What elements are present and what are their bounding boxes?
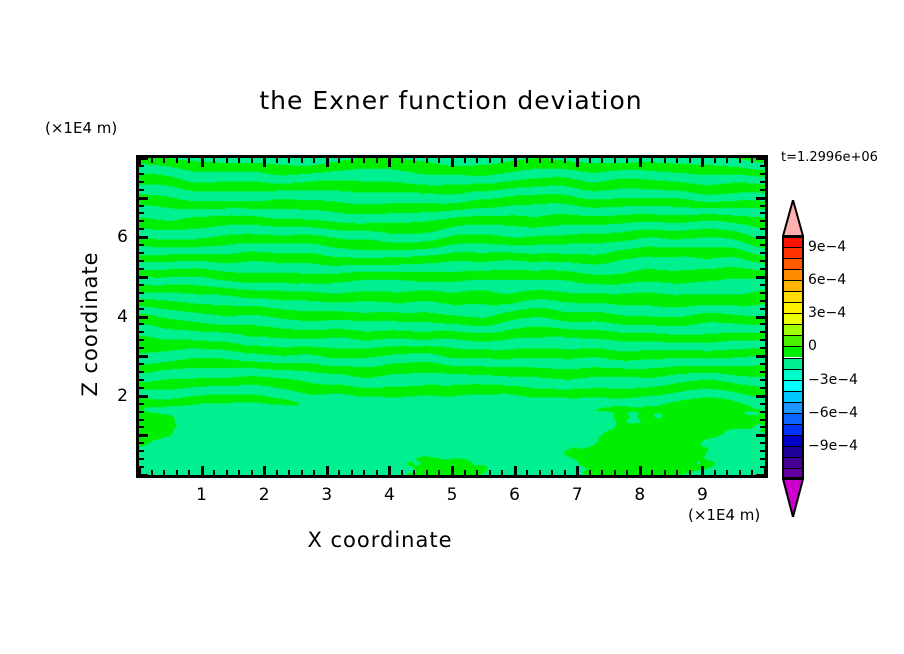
y-minor-tick	[139, 323, 144, 325]
x-major-tick	[201, 466, 204, 475]
x-minor-tick	[238, 470, 240, 475]
y-minor-tick	[760, 244, 765, 246]
y-minor-tick	[760, 411, 765, 413]
x-major-tick	[201, 158, 204, 167]
x-major-tick	[514, 466, 517, 475]
x-minor-tick	[501, 470, 503, 475]
y-minor-tick	[139, 244, 144, 246]
x-minor-tick	[251, 470, 253, 475]
x-minor-tick	[226, 158, 228, 163]
contour-field	[139, 158, 765, 475]
y-minor-tick	[760, 426, 765, 428]
colorbar-band	[782, 391, 804, 402]
y-major-tick	[756, 355, 765, 358]
x-minor-tick	[726, 470, 728, 475]
y-major-tick	[139, 355, 148, 358]
x-minor-tick	[213, 470, 215, 475]
colorbar-band	[782, 269, 804, 280]
x-minor-tick	[651, 470, 653, 475]
y-minor-tick	[139, 220, 144, 222]
x-minor-tick	[176, 470, 178, 475]
y-minor-tick	[139, 189, 144, 191]
contour-plot-area	[136, 155, 768, 478]
x-minor-tick	[151, 158, 153, 163]
y-minor-tick	[760, 347, 765, 349]
y-major-tick	[756, 395, 765, 398]
y-minor-tick	[760, 189, 765, 191]
y-minor-tick	[760, 403, 765, 405]
y-minor-tick	[760, 387, 765, 389]
x-minor-tick	[564, 158, 566, 163]
x-minor-tick	[251, 158, 253, 163]
x-minor-tick	[564, 470, 566, 475]
colorbar-band	[782, 313, 804, 324]
y-minor-tick	[760, 220, 765, 222]
x-major-tick	[388, 158, 391, 167]
y-major-tick	[139, 276, 148, 279]
colorbar-tick-label: −6e−4	[808, 405, 858, 421]
y-minor-tick	[139, 284, 144, 286]
y-major-tick	[139, 236, 148, 239]
x-minor-tick	[351, 158, 353, 163]
x-minor-tick	[213, 158, 215, 163]
y-minor-tick	[139, 260, 144, 262]
x-minor-tick	[664, 470, 666, 475]
x-major-tick	[701, 466, 704, 475]
x-major-tick	[263, 466, 266, 475]
colorbar-band	[782, 280, 804, 291]
x-minor-tick	[726, 158, 728, 163]
x-minor-tick	[739, 158, 741, 163]
x-minor-tick	[626, 158, 628, 163]
x-minor-tick	[526, 470, 528, 475]
y-minor-tick	[760, 450, 765, 452]
x-minor-tick	[413, 158, 415, 163]
x-major-tick	[639, 466, 642, 475]
x-minor-tick	[276, 470, 278, 475]
x-minor-tick	[676, 158, 678, 163]
y-minor-tick	[760, 165, 765, 167]
x-minor-tick	[601, 158, 603, 163]
x-minor-tick	[401, 158, 403, 163]
x-tick-label: 7	[557, 485, 597, 505]
x-minor-tick	[288, 158, 290, 163]
y-major-tick	[139, 157, 148, 160]
colorbar-band	[782, 358, 804, 369]
y-minor-tick	[760, 268, 765, 270]
y-minor-tick	[139, 268, 144, 270]
x-minor-tick	[163, 470, 165, 475]
y-minor-tick	[760, 339, 765, 341]
y-tick-label: 2	[88, 386, 128, 406]
y-minor-tick	[760, 458, 765, 460]
y-major-tick	[139, 395, 148, 398]
x-major-tick	[388, 466, 391, 475]
x-minor-tick	[338, 158, 340, 163]
x-minor-tick	[476, 470, 478, 475]
x-axis-title: X coordinate	[0, 528, 760, 552]
y-minor-tick	[139, 331, 144, 333]
x-minor-tick	[338, 470, 340, 475]
y-minor-tick	[760, 212, 765, 214]
colorbar-band	[782, 291, 804, 302]
x-axis-unit-label: (×1E4 m)	[688, 506, 760, 524]
y-minor-tick	[760, 323, 765, 325]
x-major-tick	[326, 466, 329, 475]
x-minor-tick	[176, 158, 178, 163]
y-minor-tick	[139, 173, 144, 175]
y-minor-tick	[139, 411, 144, 413]
colorbar-band	[782, 324, 804, 335]
colorbar-bottom-cap	[782, 479, 804, 517]
x-major-tick	[639, 158, 642, 167]
x-minor-tick	[651, 158, 653, 163]
y-minor-tick	[139, 308, 144, 310]
x-minor-tick	[401, 470, 403, 475]
colorbar-band	[782, 457, 804, 468]
y-minor-tick	[760, 228, 765, 230]
y-minor-tick	[139, 371, 144, 373]
x-minor-tick	[751, 470, 753, 475]
y-major-tick	[756, 276, 765, 279]
x-tick-label: 4	[369, 485, 409, 505]
x-minor-tick	[664, 158, 666, 163]
x-tick-label: 5	[432, 485, 472, 505]
x-minor-tick	[363, 470, 365, 475]
x-minor-tick	[301, 470, 303, 475]
y-major-tick	[756, 157, 765, 160]
x-minor-tick	[226, 470, 228, 475]
y-major-tick	[756, 236, 765, 239]
y-minor-tick	[760, 284, 765, 286]
y-minor-tick	[760, 205, 765, 207]
y-major-tick	[139, 197, 148, 200]
x-minor-tick	[689, 470, 691, 475]
y-tick-label: 6	[88, 227, 128, 247]
x-tick-label: 3	[307, 485, 347, 505]
x-minor-tick	[363, 158, 365, 163]
x-major-tick	[326, 158, 329, 167]
x-minor-tick	[601, 470, 603, 475]
colorbar-tick-label: 6e−4	[808, 272, 846, 288]
x-minor-tick	[589, 470, 591, 475]
colorbar-band	[782, 247, 804, 258]
y-major-tick	[756, 316, 765, 319]
colorbar-band	[782, 380, 804, 391]
y-minor-tick	[139, 300, 144, 302]
y-axis-unit-label: (×1E4 m)	[45, 119, 117, 137]
x-minor-tick	[689, 158, 691, 163]
x-minor-tick	[489, 470, 491, 475]
y-minor-tick	[760, 363, 765, 365]
x-minor-tick	[714, 158, 716, 163]
colorbar-tick-label: 0	[808, 338, 817, 354]
y-minor-tick	[760, 252, 765, 254]
x-major-tick	[451, 158, 454, 167]
x-tick-label: 6	[495, 485, 535, 505]
y-minor-tick	[139, 450, 144, 452]
x-major-tick	[514, 158, 517, 167]
x-minor-tick	[438, 470, 440, 475]
colorbar-tick-label: −3e−4	[808, 372, 858, 388]
x-minor-tick	[464, 158, 466, 163]
x-minor-tick	[376, 470, 378, 475]
x-minor-tick	[589, 158, 591, 163]
x-tick-label: 2	[244, 485, 284, 505]
x-minor-tick	[476, 158, 478, 163]
y-minor-tick	[139, 252, 144, 254]
y-minor-tick	[139, 181, 144, 183]
y-minor-tick	[139, 228, 144, 230]
y-minor-tick	[139, 387, 144, 389]
y-minor-tick	[139, 379, 144, 381]
x-tick-label: 9	[682, 485, 722, 505]
colorbar-band	[782, 236, 804, 247]
time-annotation: t=1.2996e+06	[781, 150, 878, 165]
y-minor-tick	[760, 331, 765, 333]
x-minor-tick	[751, 158, 753, 163]
y-minor-tick	[760, 442, 765, 444]
x-minor-tick	[151, 470, 153, 475]
x-minor-tick	[276, 158, 278, 163]
y-minor-tick	[139, 165, 144, 167]
colorbar-band	[782, 369, 804, 380]
x-minor-tick	[676, 470, 678, 475]
y-major-tick	[139, 316, 148, 319]
colorbar-band	[782, 258, 804, 269]
x-minor-tick	[551, 158, 553, 163]
colorbar-tick-label: 9e−4	[808, 239, 846, 255]
y-minor-tick	[760, 292, 765, 294]
x-major-tick	[701, 158, 704, 167]
colorbar-band	[782, 413, 804, 424]
colorbar	[782, 236, 804, 479]
x-minor-tick	[539, 470, 541, 475]
y-minor-tick	[139, 442, 144, 444]
y-major-tick	[756, 197, 765, 200]
colorbar-top-cap	[782, 200, 804, 236]
x-major-tick	[451, 466, 454, 475]
y-minor-tick	[139, 292, 144, 294]
y-minor-tick	[760, 419, 765, 421]
colorbar-band	[782, 446, 804, 457]
x-minor-tick	[426, 470, 428, 475]
y-minor-tick	[139, 339, 144, 341]
x-minor-tick	[238, 158, 240, 163]
x-minor-tick	[551, 470, 553, 475]
x-minor-tick	[526, 158, 528, 163]
colorbar-band	[782, 402, 804, 413]
x-minor-tick	[301, 158, 303, 163]
y-major-tick	[139, 474, 148, 477]
x-minor-tick	[426, 158, 428, 163]
y-minor-tick	[760, 300, 765, 302]
x-minor-tick	[614, 470, 616, 475]
colorbar-band	[782, 435, 804, 446]
x-minor-tick	[501, 158, 503, 163]
y-minor-tick	[760, 173, 765, 175]
chart-title: the Exner function deviation	[0, 86, 904, 115]
x-minor-tick	[614, 158, 616, 163]
colorbar-band	[782, 468, 804, 479]
x-minor-tick	[438, 158, 440, 163]
y-minor-tick	[760, 371, 765, 373]
y-minor-tick	[139, 403, 144, 405]
colorbar-band	[782, 346, 804, 357]
x-minor-tick	[288, 470, 290, 475]
x-minor-tick	[464, 470, 466, 475]
y-tick-label: 4	[88, 307, 128, 327]
colorbar-tick-label: −9e−4	[808, 438, 858, 454]
x-minor-tick	[413, 470, 415, 475]
colorbar-tick-label: 3e−4	[808, 305, 846, 321]
y-minor-tick	[139, 426, 144, 428]
colorbar-band	[782, 302, 804, 313]
figure-root: the Exner function deviation (×1E4 m) (×…	[0, 0, 904, 654]
x-minor-tick	[188, 470, 190, 475]
y-major-tick	[756, 434, 765, 437]
y-minor-tick	[760, 260, 765, 262]
y-minor-tick	[139, 347, 144, 349]
x-major-tick	[263, 158, 266, 167]
y-minor-tick	[760, 181, 765, 183]
x-tick-label: 1	[182, 485, 222, 505]
y-minor-tick	[760, 379, 765, 381]
y-minor-tick	[139, 205, 144, 207]
colorbar-band	[782, 424, 804, 435]
colorbar-band	[782, 335, 804, 346]
x-minor-tick	[714, 470, 716, 475]
x-minor-tick	[188, 158, 190, 163]
x-minor-tick	[539, 158, 541, 163]
y-minor-tick	[760, 308, 765, 310]
x-minor-tick	[313, 158, 315, 163]
y-minor-tick	[760, 466, 765, 468]
x-tick-label: 8	[620, 485, 660, 505]
y-major-tick	[139, 434, 148, 437]
y-minor-tick	[139, 458, 144, 460]
x-minor-tick	[351, 470, 353, 475]
x-minor-tick	[489, 158, 491, 163]
y-minor-tick	[139, 466, 144, 468]
x-minor-tick	[376, 158, 378, 163]
x-minor-tick	[313, 470, 315, 475]
y-minor-tick	[139, 419, 144, 421]
x-major-tick	[576, 466, 579, 475]
x-minor-tick	[739, 470, 741, 475]
x-major-tick	[576, 158, 579, 167]
x-minor-tick	[626, 470, 628, 475]
y-minor-tick	[139, 212, 144, 214]
y-minor-tick	[139, 363, 144, 365]
y-major-tick	[756, 474, 765, 477]
x-minor-tick	[163, 158, 165, 163]
